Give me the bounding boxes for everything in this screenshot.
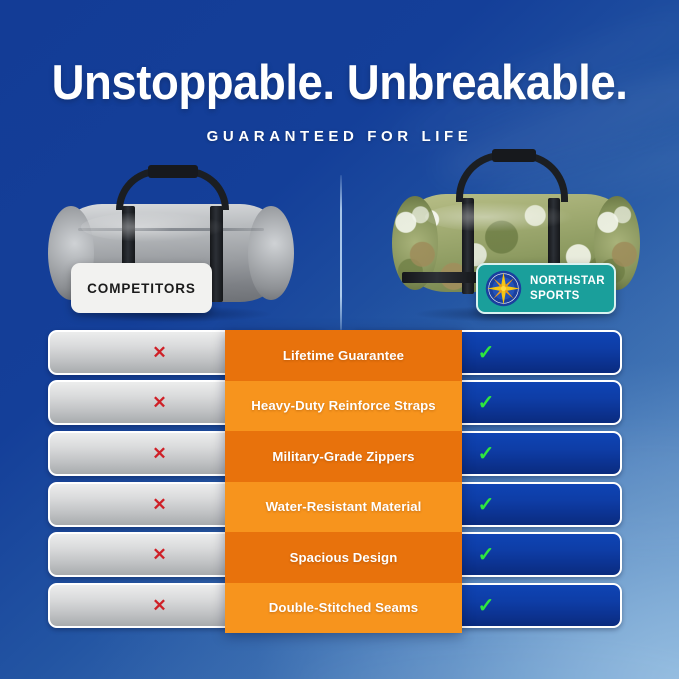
feature-label: Double-Stitched Seams xyxy=(225,583,462,634)
page-headline: Unstoppable. Unbreakable. xyxy=(24,58,655,109)
competitors-label-chip: COMPETITORS xyxy=(71,263,212,313)
brand-line-2: SPORTS xyxy=(530,289,605,303)
competitors-label: COMPETITORS xyxy=(87,281,196,296)
check-icon: ✓ xyxy=(478,444,495,464)
bag-zipper xyxy=(78,228,264,231)
check-icon: ✓ xyxy=(478,343,495,363)
bag-strap-band xyxy=(402,272,480,283)
feature-label: Lifetime Guarantee xyxy=(225,330,462,381)
brand-line-1: NORTHSTAR xyxy=(530,274,605,288)
northstar-brand-chip: NORTHSTAR SPORTS xyxy=(476,263,616,314)
feature-label: Heavy-Duty Reinforce Straps xyxy=(225,381,462,432)
check-icon: ✓ xyxy=(478,393,495,413)
bag-handle-wrap xyxy=(492,149,536,162)
infographic-canvas: Unstoppable. Unbreakable. GUARANTEED FOR… xyxy=(0,0,679,679)
cloud-streak xyxy=(300,640,679,679)
bag-end-cap-right xyxy=(248,206,294,300)
cross-icon: ✕ xyxy=(152,394,166,411)
check-icon: ✓ xyxy=(478,596,495,616)
vertical-divider xyxy=(340,175,342,330)
feature-label: Water-Resistant Material xyxy=(225,482,462,533)
northstar-brand-text: NORTHSTAR SPORTS xyxy=(530,274,605,302)
compass-star-emblem-icon xyxy=(485,270,522,307)
cross-icon: ✕ xyxy=(152,445,166,462)
check-icon: ✓ xyxy=(478,545,495,565)
feature-label-column: Lifetime Guarantee Heavy-Duty Reinforce … xyxy=(225,330,462,633)
cross-icon: ✕ xyxy=(152,546,166,563)
cross-icon: ✕ xyxy=(152,597,166,614)
check-icon: ✓ xyxy=(478,495,495,515)
comparison-table: ✕ ✓ ✕ ✓ ✕ ✓ ✕ ✓ ✕ ✓ ✕ ✓ Lifetime Guarant… xyxy=(0,330,679,640)
feature-label: Military-Grade Zippers xyxy=(225,431,462,482)
cross-icon: ✕ xyxy=(152,496,166,513)
page-subheadline: GUARANTEED FOR LIFE xyxy=(0,128,679,145)
cross-icon: ✕ xyxy=(152,344,166,361)
bag-handle-wrap xyxy=(148,165,198,178)
feature-label: Spacious Design xyxy=(225,532,462,583)
